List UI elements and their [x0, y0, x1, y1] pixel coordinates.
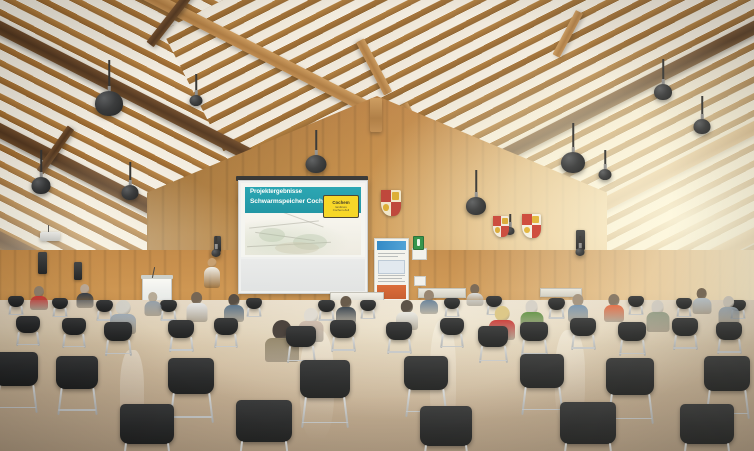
audience-chair-mid-row	[716, 322, 742, 356]
person-torso	[646, 312, 669, 332]
chair-crossbar	[673, 347, 697, 348]
chair-leg	[285, 441, 291, 451]
audience-chair-back-row	[548, 298, 565, 321]
crest-quarter	[522, 214, 532, 225]
chair-leg	[405, 389, 410, 417]
audience-chair-back-row	[676, 298, 692, 319]
chair-leg	[57, 388, 62, 415]
audience-chair-mid-row	[62, 318, 86, 350]
lamp-cord	[572, 123, 574, 149]
person-torso	[76, 293, 93, 308]
badge-line3: Cochem-Zell	[333, 209, 349, 212]
chair-backrest	[680, 404, 734, 444]
lamp-dome	[654, 84, 672, 100]
chair-crossbar	[58, 409, 97, 410]
chair-backrest	[440, 318, 464, 335]
chair-backrest	[520, 322, 548, 341]
chair-crossbar	[215, 346, 237, 347]
audience-member	[466, 284, 483, 306]
person-torso	[30, 296, 48, 310]
audience-chair-mid-row	[214, 318, 238, 350]
chair-backrest	[570, 318, 596, 336]
person-torso	[144, 301, 161, 316]
lamp-cord	[315, 130, 317, 152]
audience-chair-mid-row	[672, 318, 698, 352]
chair-backrest	[300, 360, 350, 398]
chair-crossbar	[479, 360, 507, 361]
screen-blank-area	[241, 259, 365, 291]
audience-member	[646, 300, 669, 332]
chair-backrest	[606, 358, 654, 395]
audience-chair-front-row	[300, 360, 350, 432]
ceiling-speaker	[74, 262, 82, 280]
chair-crossbar	[522, 409, 563, 410]
chair-backrest	[404, 356, 448, 390]
lamp-dome	[306, 155, 327, 173]
lamp-cord	[662, 59, 664, 81]
chair-leg	[167, 443, 173, 451]
audience-chair-foreground	[680, 404, 734, 451]
crest-charge	[383, 204, 389, 211]
chair-crossbar	[9, 314, 24, 315]
lamp-cord	[129, 162, 131, 182]
lamp-cord	[40, 150, 42, 174]
audience-member	[718, 296, 739, 324]
chair-leg	[681, 443, 687, 451]
audience-chair-back-row	[628, 296, 644, 317]
chair-crossbar	[247, 316, 262, 317]
chair-leg	[609, 443, 615, 451]
chair-crossbar	[105, 353, 131, 354]
chair-backrest	[520, 354, 564, 388]
audience-chair-mid-row	[440, 318, 464, 350]
chair-backrest	[420, 406, 472, 446]
chair-backrest	[560, 402, 616, 444]
chair-backrest	[478, 326, 508, 347]
chair-crossbar	[571, 347, 595, 348]
audience-chair-back-row	[8, 296, 24, 317]
chair-leg	[344, 397, 349, 428]
wall-notice-small	[414, 276, 426, 286]
chair-leg	[208, 393, 213, 422]
lamp-dome	[32, 177, 51, 194]
lamp-cord	[108, 60, 110, 88]
person-torso	[604, 305, 624, 322]
chair-backrest	[0, 352, 38, 386]
lamp-dome	[122, 185, 139, 200]
person-torso	[466, 293, 483, 306]
crest-charge	[495, 227, 500, 232]
projected-slide: Projektergebnisse Schwarmspeicher Cochem…	[241, 183, 365, 257]
audience-chair-mid-row	[104, 322, 132, 358]
chair-leg	[727, 443, 733, 451]
chair-crossbar	[717, 351, 741, 352]
lamp-dome	[561, 152, 585, 173]
audience-chair-foreground	[420, 406, 472, 451]
slide-yellow-badge: Cochem landkreis Cochem-Zell	[323, 195, 359, 218]
lamp-dome	[95, 91, 123, 116]
chair-backrest	[16, 316, 40, 333]
lamp-dome	[694, 119, 711, 134]
audience-chair-mid-row	[386, 322, 412, 356]
chair-crossbar	[387, 351, 411, 352]
audience-chair-foreground	[560, 402, 616, 451]
slide-title-line1: Projektergebnisse	[250, 188, 302, 195]
chair-crossbar	[629, 314, 644, 315]
chair-leg	[465, 445, 471, 451]
chair-leg	[561, 443, 567, 451]
chair-backrest	[168, 320, 194, 338]
chair-crossbar	[63, 346, 85, 347]
lamp-dome	[212, 249, 221, 257]
audience-chair-mid-row	[520, 322, 548, 358]
chair-backrest	[236, 400, 292, 442]
chair-leg	[237, 441, 243, 451]
audience-chair-back-row	[246, 298, 262, 319]
person-torso	[204, 267, 220, 288]
audience-chair-mid-row	[618, 322, 646, 358]
coat-of-arms	[493, 216, 509, 237]
chair-crossbar	[53, 316, 68, 317]
chair-backrest	[330, 320, 356, 338]
audience-chair-front-row	[168, 358, 214, 426]
coat-of-arms	[522, 214, 541, 238]
crest-charge	[524, 227, 530, 233]
chair-crossbar	[0, 407, 36, 408]
audience-member	[30, 286, 48, 310]
chair-crossbar	[549, 317, 565, 318]
chair-leg	[421, 445, 427, 451]
chair-crossbar	[441, 346, 463, 347]
lamp-cord	[475, 170, 477, 194]
ceiling-speaker	[38, 252, 47, 274]
chair-crossbar	[677, 316, 692, 317]
chair-backrest	[62, 318, 86, 335]
ceiling-projector	[40, 232, 60, 241]
chair-crossbar	[445, 316, 460, 317]
audience-chair-foreground	[236, 400, 292, 451]
emergency-exit-icon	[413, 236, 424, 250]
poster-header	[377, 241, 406, 250]
audience-member	[420, 290, 438, 314]
chair-crossbar	[170, 416, 212, 417]
chair-crossbar	[169, 349, 193, 350]
chair-backrest	[120, 404, 174, 444]
chair-backrest	[704, 356, 750, 391]
audience-chair-mid-row	[168, 320, 194, 354]
audience-chair-foreground	[120, 404, 174, 451]
chair-crossbar	[361, 318, 376, 319]
audience-member	[186, 292, 207, 322]
chair-backrest	[56, 356, 98, 389]
crest-charge	[392, 192, 400, 200]
lamp-cord	[701, 96, 703, 116]
coat-of-arms	[381, 190, 401, 216]
audience-chair-back-row	[444, 298, 460, 319]
person-torso	[420, 300, 438, 314]
audience-chair-front-row	[520, 354, 564, 419]
chair-leg	[32, 385, 37, 413]
chair-backrest	[168, 358, 214, 394]
chair-crossbar	[619, 353, 645, 354]
chair-leg	[92, 388, 97, 415]
audience-chair-front-row	[56, 356, 98, 419]
chair-backrest	[104, 322, 132, 341]
chair-crossbar	[302, 422, 348, 423]
audience-chair-back-row	[360, 300, 376, 321]
chair-backrest	[386, 322, 412, 340]
audience-member	[76, 284, 93, 308]
king-post	[370, 98, 382, 132]
chair-backrest	[618, 322, 646, 341]
chair-leg	[648, 394, 653, 424]
slide-map-graphic	[245, 214, 361, 255]
audience-chair-back-row	[52, 298, 68, 319]
chair-leg	[301, 397, 306, 428]
presenter	[204, 258, 220, 288]
audience-chair-mid-row	[570, 318, 596, 352]
chair-leg	[744, 390, 749, 419]
chair-backrest	[672, 318, 698, 336]
person-torso	[692, 298, 711, 314]
lamp-dome	[576, 248, 585, 256]
audience-chair-mid-row	[330, 320, 356, 354]
audience-chair-front-row	[0, 352, 38, 417]
chair-leg	[121, 443, 127, 451]
conference-hall-photo: Projektergebnisse Schwarmspeicher Cochem…	[0, 0, 754, 451]
chair-crossbar	[17, 344, 39, 345]
crest-quarter	[493, 216, 501, 226]
audience-member	[692, 288, 711, 314]
projection-screen: Projektergebnisse Schwarmspeicher Cochem…	[238, 180, 368, 294]
chair-crossbar	[331, 349, 355, 350]
audience-chair-mid-row	[16, 316, 40, 348]
audience-chair-mid-row	[478, 326, 508, 366]
audience-member	[604, 294, 624, 322]
crest-charge	[502, 218, 508, 224]
crest-charge	[532, 216, 539, 223]
chair-backrest	[716, 322, 742, 340]
chair-leg	[521, 387, 526, 415]
chair-backrest	[286, 326, 316, 347]
chair-backrest	[214, 318, 238, 335]
audience-member	[144, 292, 161, 316]
crest-quarter	[381, 190, 391, 202]
lamp-dome	[466, 197, 486, 215]
